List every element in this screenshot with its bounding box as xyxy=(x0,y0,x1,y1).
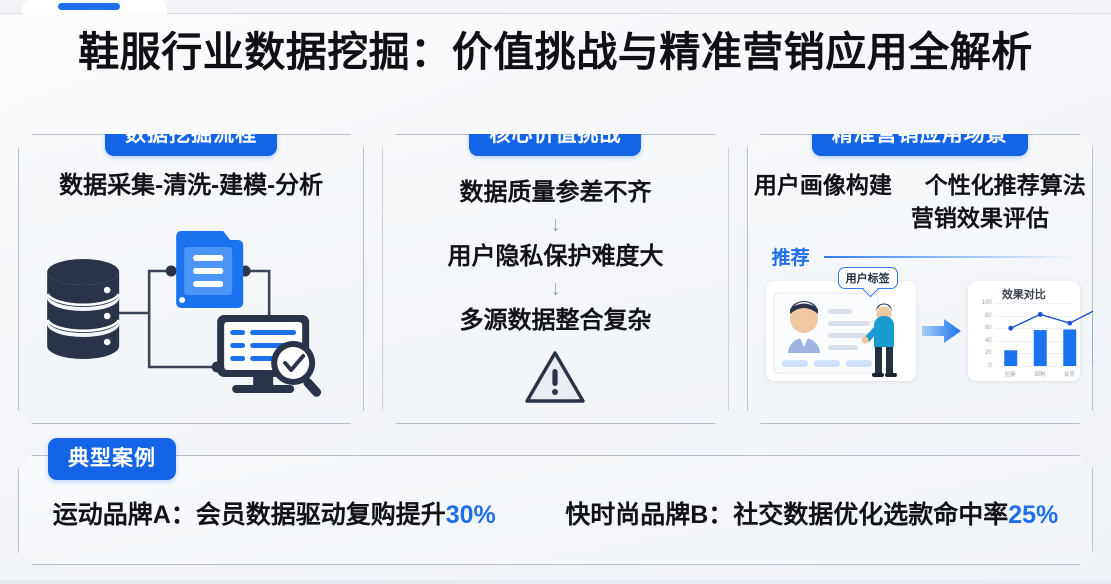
page-bottom-rule xyxy=(0,580,1111,584)
card-precision-marketing: 精准营销应用场景 用户画像构建 个性化推荐算法 营销效果评估 推荐 xyxy=(747,134,1093,424)
chrome-divider xyxy=(167,13,1111,14)
case-label: 运动品牌A：会员数据驱动复购提升 xyxy=(53,501,446,529)
card-core-value-challenges: 核心价值挑战 数据质量参差不齐 ↓ 用户隐私保护难度大 ↓ 多源数据整合复杂 xyxy=(382,134,728,424)
card-data-mining-process: 数据挖掘流程 数据采集-清洗-建模-分析 xyxy=(18,134,364,424)
challenge-step-2: 用户隐私保护难度大 xyxy=(383,241,727,273)
case-metric: 30% xyxy=(446,501,496,529)
card-title-pill-2: 核心价值挑战 xyxy=(469,114,641,156)
case-item: 运动品牌A：会员数据驱动复购提升30% xyxy=(53,498,496,532)
mini-chart-point xyxy=(1038,312,1043,317)
scenario-illustration: 用户标签 效果对比 xyxy=(766,277,1080,385)
mini-chart-bar xyxy=(1004,350,1017,366)
browser-tab[interactable] xyxy=(22,0,167,14)
cards-row: 数据挖掘流程 数据采集-清洗-建模-分析 xyxy=(18,134,1093,424)
browser-chrome-strip xyxy=(0,0,1111,14)
process-diagram xyxy=(19,217,363,407)
challenge-flow: 数据质量参差不齐 ↓ 用户隐私保护难度大 ↓ 多源数据整合复杂 xyxy=(383,177,727,405)
scenario-label-1: 用户画像构建 xyxy=(754,169,892,202)
mini-chart-xtick: 拉新 xyxy=(1005,370,1016,378)
scenario-label-2: 个性化推荐算法 xyxy=(925,169,1086,202)
clipboard-icon xyxy=(176,231,243,308)
mini-chart-series xyxy=(972,301,1111,377)
card3-headlines: 用户画像构建 个性化推荐算法 营销效果评估 xyxy=(748,169,1092,235)
database-icon xyxy=(47,259,119,359)
user-tag-bubble: 用户标签 xyxy=(838,267,898,289)
card1-headline: 数据采集-清洗-建模-分析 xyxy=(19,169,363,203)
mini-chart-xtick: 平均 xyxy=(1093,370,1104,378)
mini-chart-line xyxy=(1010,308,1099,328)
mini-chart-bar xyxy=(1092,317,1105,366)
mini-chart-point xyxy=(1067,321,1072,326)
monitor-search-icon xyxy=(217,315,323,399)
card-title-pill-3: 精准营销应用场景 xyxy=(812,114,1028,156)
blue-arrow-icon xyxy=(922,318,962,344)
tab-active-indicator xyxy=(58,3,120,10)
case-metric: 25% xyxy=(1008,501,1058,529)
flow-arrow-icon: ↓ xyxy=(383,276,727,302)
mini-chart-bar xyxy=(1033,330,1046,366)
mini-chart-plot: 100806040200拉新回购会员平均 xyxy=(972,301,1074,377)
scenario-label-3: 营销效果评估 xyxy=(748,202,1092,235)
warning-triangle-icon xyxy=(383,349,727,405)
recommend-divider xyxy=(824,256,1076,258)
case-item: 快时尚品牌B：社交数据优化选款命中率25% xyxy=(565,498,1058,532)
case-title-pill: 典型案例 xyxy=(48,438,176,480)
challenge-step-1: 数据质量参差不齐 xyxy=(383,177,727,209)
case-items: 运动品牌A：会员数据驱动复购提升30% 快时尚品牌B：社交数据优化选款命中率25… xyxy=(18,498,1093,532)
avatar xyxy=(788,301,820,353)
challenge-step-3: 多源数据整合复杂 xyxy=(383,305,727,337)
mini-chart-xtick: 回购 xyxy=(1034,370,1045,378)
mini-chart-panel: 效果对比 100806040200拉新回购会员平均 xyxy=(968,281,1080,381)
mini-chart-xtick: 会员 xyxy=(1064,370,1075,378)
mini-chart-bar xyxy=(1063,329,1076,366)
card-title-pill-1: 数据挖掘流程 xyxy=(105,114,277,156)
case-label: 快时尚品牌B：社交数据优化选款命中率 xyxy=(565,501,1008,529)
mini-chart-point xyxy=(1008,326,1013,331)
page-title: 鞋服行业数据挖掘：价值挑战与精准营销应用全解析 xyxy=(0,26,1111,78)
flow-arrow-icon: ↓ xyxy=(383,212,727,238)
user-profile-panel: 用户标签 xyxy=(766,281,916,381)
recommend-section-header: 推荐 xyxy=(772,243,1076,270)
recommend-label: 推荐 xyxy=(772,243,810,270)
mini-chart-point xyxy=(1097,306,1102,311)
